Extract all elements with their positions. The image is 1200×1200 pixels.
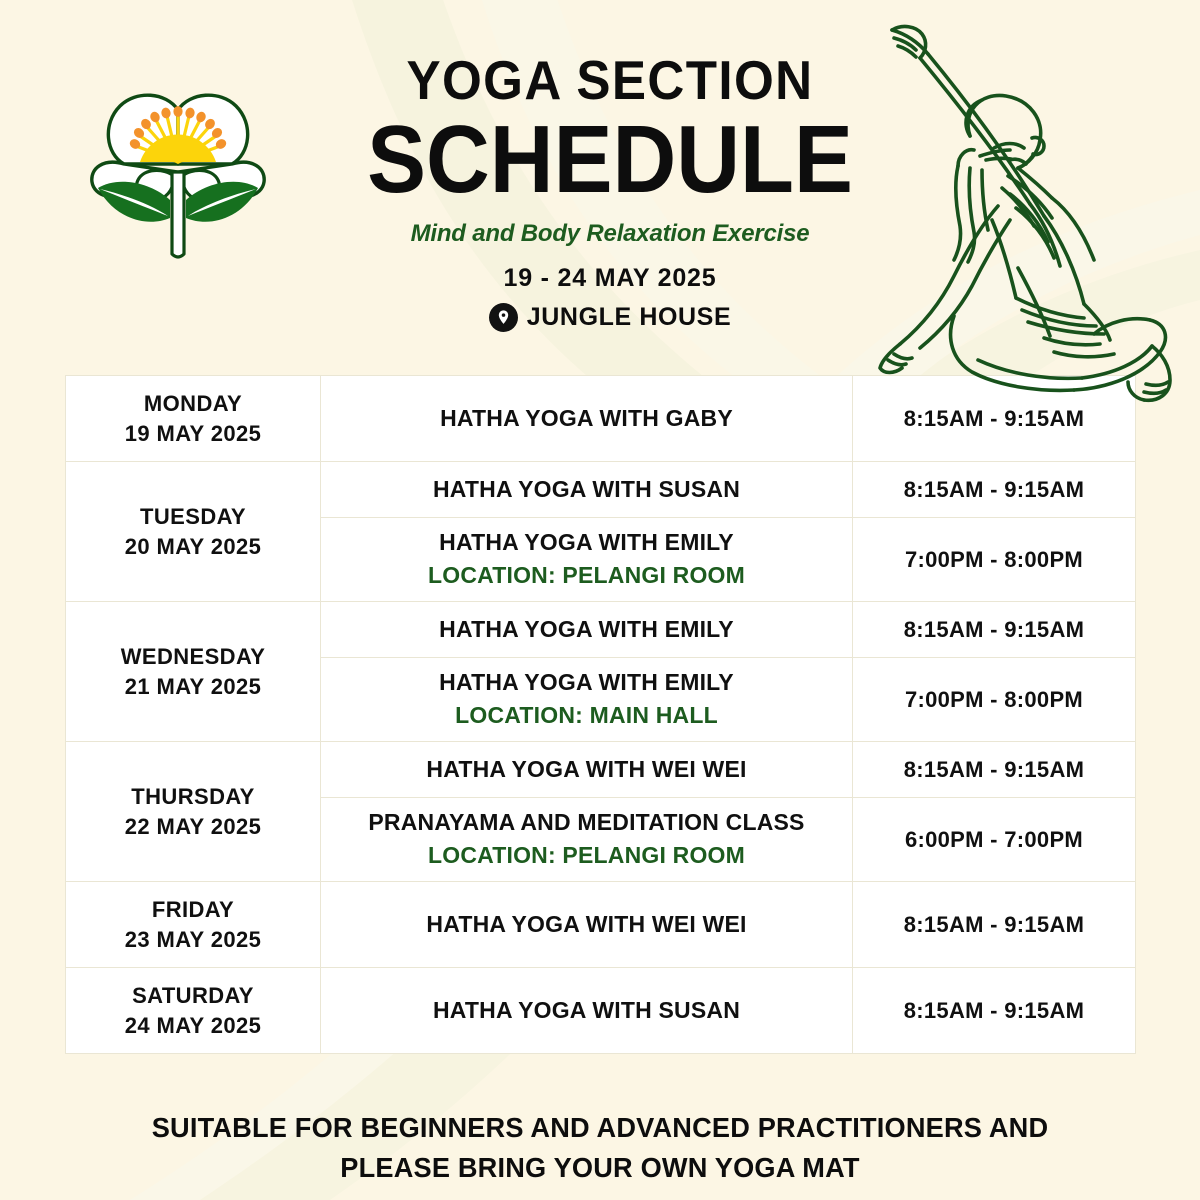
day-cell: FRIDAY23 MAY 2025 (66, 882, 321, 968)
class-name: HATHA YOGA WITH WEI WEI (426, 756, 746, 782)
day-date: 20 MAY 2025 (74, 532, 312, 561)
day-date: 22 MAY 2025 (74, 812, 312, 841)
class-name: HATHA YOGA WITH EMILY (439, 529, 734, 555)
day-date: 24 MAY 2025 (74, 1011, 312, 1040)
poster-root: YOGA SECTION SCHEDULE Mind and Body Rela… (0, 0, 1200, 1200)
class-cell: HATHA YOGA WITH SUSAN (321, 968, 853, 1054)
table-row: SATURDAY24 MAY 2025HATHA YOGA WITH SUSAN… (66, 968, 1136, 1054)
class-name: HATHA YOGA WITH GABY (440, 405, 733, 431)
footer-line-2: PLEASE BRING YOUR OWN YOGA MAT (18, 1148, 1182, 1188)
time-cell: 7:00PM - 8:00PM (853, 518, 1136, 602)
table-row: THURSDAY22 MAY 2025HATHA YOGA WITH WEI W… (66, 742, 1136, 798)
day-cell: TUESDAY20 MAY 2025 (66, 462, 321, 602)
flower-logo-icon (78, 72, 278, 272)
location-pin-icon (489, 303, 518, 332)
class-name: HATHA YOGA WITH EMILY (439, 616, 734, 642)
time-cell: 8:15AM - 9:15AM (853, 968, 1136, 1054)
venue-row: JUNGLE HOUSE (300, 303, 920, 332)
day-date: 21 MAY 2025 (74, 672, 312, 701)
class-name: HATHA YOGA WITH SUSAN (433, 997, 740, 1023)
day-cell: THURSDAY22 MAY 2025 (66, 742, 321, 882)
schedule-table: MONDAY19 MAY 2025HATHA YOGA WITH GABY8:1… (65, 375, 1136, 1054)
date-range: 19 - 24 MAY 2025 (300, 264, 920, 293)
day-date: 23 MAY 2025 (74, 925, 312, 954)
class-name: PRANAYAMA AND MEDITATION CLASS (368, 809, 804, 835)
page-title: SCHEDULE (325, 112, 895, 208)
poster-header: YOGA SECTION SCHEDULE Mind and Body Rela… (300, 52, 920, 332)
footer-line-1: SUITABLE FOR BEGINNERS AND ADVANCED PRAC… (18, 1108, 1182, 1148)
class-name: HATHA YOGA WITH SUSAN (433, 476, 740, 502)
footer-note: SUITABLE FOR BEGINNERS AND ADVANCED PRAC… (18, 1108, 1182, 1188)
class-cell: HATHA YOGA WITH EMILYLOCATION: PELANGI R… (321, 518, 853, 602)
time-cell: 8:15AM - 9:15AM (853, 742, 1136, 798)
day-cell: SATURDAY24 MAY 2025 (66, 968, 321, 1054)
class-cell: HATHA YOGA WITH GABY (321, 376, 853, 462)
class-cell: HATHA YOGA WITH EMILYLOCATION: MAIN HALL (321, 658, 853, 742)
time-cell: 8:15AM - 9:15AM (853, 882, 1136, 968)
day-name: SATURDAY (74, 981, 312, 1010)
table-row: FRIDAY23 MAY 2025HATHA YOGA WITH WEI WEI… (66, 882, 1136, 968)
class-cell: HATHA YOGA WITH EMILY (321, 602, 853, 658)
day-name: THURSDAY (74, 782, 312, 811)
day-name: TUESDAY (74, 502, 312, 531)
seated-yoga-woman-illustration (858, 8, 1200, 428)
title-line-top: YOGA SECTION (322, 52, 899, 110)
venue-name: JUNGLE HOUSE (527, 303, 731, 332)
class-cell: HATHA YOGA WITH SUSAN (321, 462, 853, 518)
time-cell: 8:15AM - 9:15AM (853, 602, 1136, 658)
table-row: TUESDAY20 MAY 2025HATHA YOGA WITH SUSAN8… (66, 462, 1136, 518)
class-cell: PRANAYAMA AND MEDITATION CLASSLOCATION: … (321, 798, 853, 882)
day-name: WEDNESDAY (74, 642, 312, 671)
time-cell: 7:00PM - 8:00PM (853, 658, 1136, 742)
class-name: HATHA YOGA WITH EMILY (439, 669, 734, 695)
day-cell: WEDNESDAY21 MAY 2025 (66, 602, 321, 742)
class-cell: HATHA YOGA WITH WEI WEI (321, 742, 853, 798)
schedule-table-body: MONDAY19 MAY 2025HATHA YOGA WITH GABY8:1… (66, 376, 1136, 1054)
class-cell: HATHA YOGA WITH WEI WEI (321, 882, 853, 968)
day-cell: MONDAY19 MAY 2025 (66, 376, 321, 462)
class-location: LOCATION: PELANGI ROOM (329, 841, 844, 871)
day-name: FRIDAY (74, 895, 312, 924)
class-location: LOCATION: MAIN HALL (329, 701, 844, 731)
day-date: 19 MAY 2025 (74, 419, 312, 448)
poster-subtitle: Mind and Body Relaxation Exercise (300, 220, 920, 248)
time-cell: 8:15AM - 9:15AM (853, 462, 1136, 518)
table-row: WEDNESDAY21 MAY 2025HATHA YOGA WITH EMIL… (66, 602, 1136, 658)
class-location: LOCATION: PELANGI ROOM (329, 561, 844, 591)
day-name: MONDAY (74, 389, 312, 418)
time-cell: 6:00PM - 7:00PM (853, 798, 1136, 882)
class-name: HATHA YOGA WITH WEI WEI (426, 911, 746, 937)
